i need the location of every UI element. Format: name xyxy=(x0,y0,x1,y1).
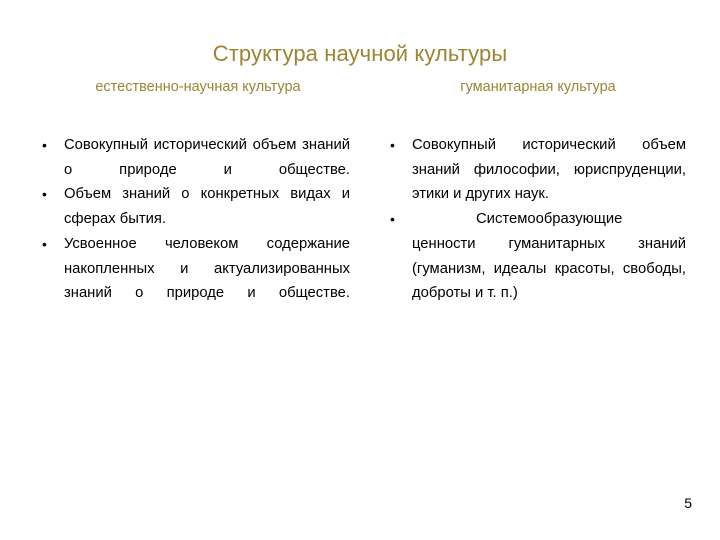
bullet-marker-icon: • xyxy=(390,207,404,232)
list-item-text: Усвоенное человеком содержание накопленн… xyxy=(64,232,350,306)
page-title: Структура научной культуры xyxy=(0,41,720,67)
bullet-list-right: • Совокупный исторический объем знаний ф… xyxy=(386,133,686,306)
bullet-list-left: • Совокупный исторический объем знаний о… xyxy=(38,133,350,306)
bullet-marker-icon: • xyxy=(42,232,56,257)
list-item-text: Объем знаний о конкретных видах и сферах… xyxy=(64,182,350,231)
slide-canvas: Структура научной культуры естественно-н… xyxy=(0,0,720,540)
list-item: • Совокупный исторический объем знаний ф… xyxy=(386,133,686,207)
bullet-marker-icon: • xyxy=(42,133,56,158)
column-header-right: гуманитарная культура xyxy=(388,78,688,96)
list-item: • Усвоенное человеком содержание накопле… xyxy=(38,232,350,306)
column-header-left: естественно-научная культура xyxy=(28,78,368,96)
list-item: • Объем знаний о конкретных видах и сфер… xyxy=(38,182,350,231)
list-item: • Совокупный исторический объем знаний о… xyxy=(38,133,350,182)
list-item-text: Совокупный исторический объем знаний о п… xyxy=(64,133,350,182)
list-item-text: Системообразующие ценности гуманитарных … xyxy=(412,207,686,306)
page-number: 5 xyxy=(684,495,692,511)
list-item: • Системообразующие ценности гуманитарны… xyxy=(386,207,686,306)
bullet-marker-icon: • xyxy=(390,133,404,158)
bullet-marker-icon: • xyxy=(42,182,56,207)
content-column-left: • Совокупный исторический объем знаний о… xyxy=(38,133,350,306)
content-column-right: • Совокупный исторический объем знаний ф… xyxy=(386,133,686,306)
list-item-text: Совокупный исторический объем знаний фил… xyxy=(412,133,686,207)
